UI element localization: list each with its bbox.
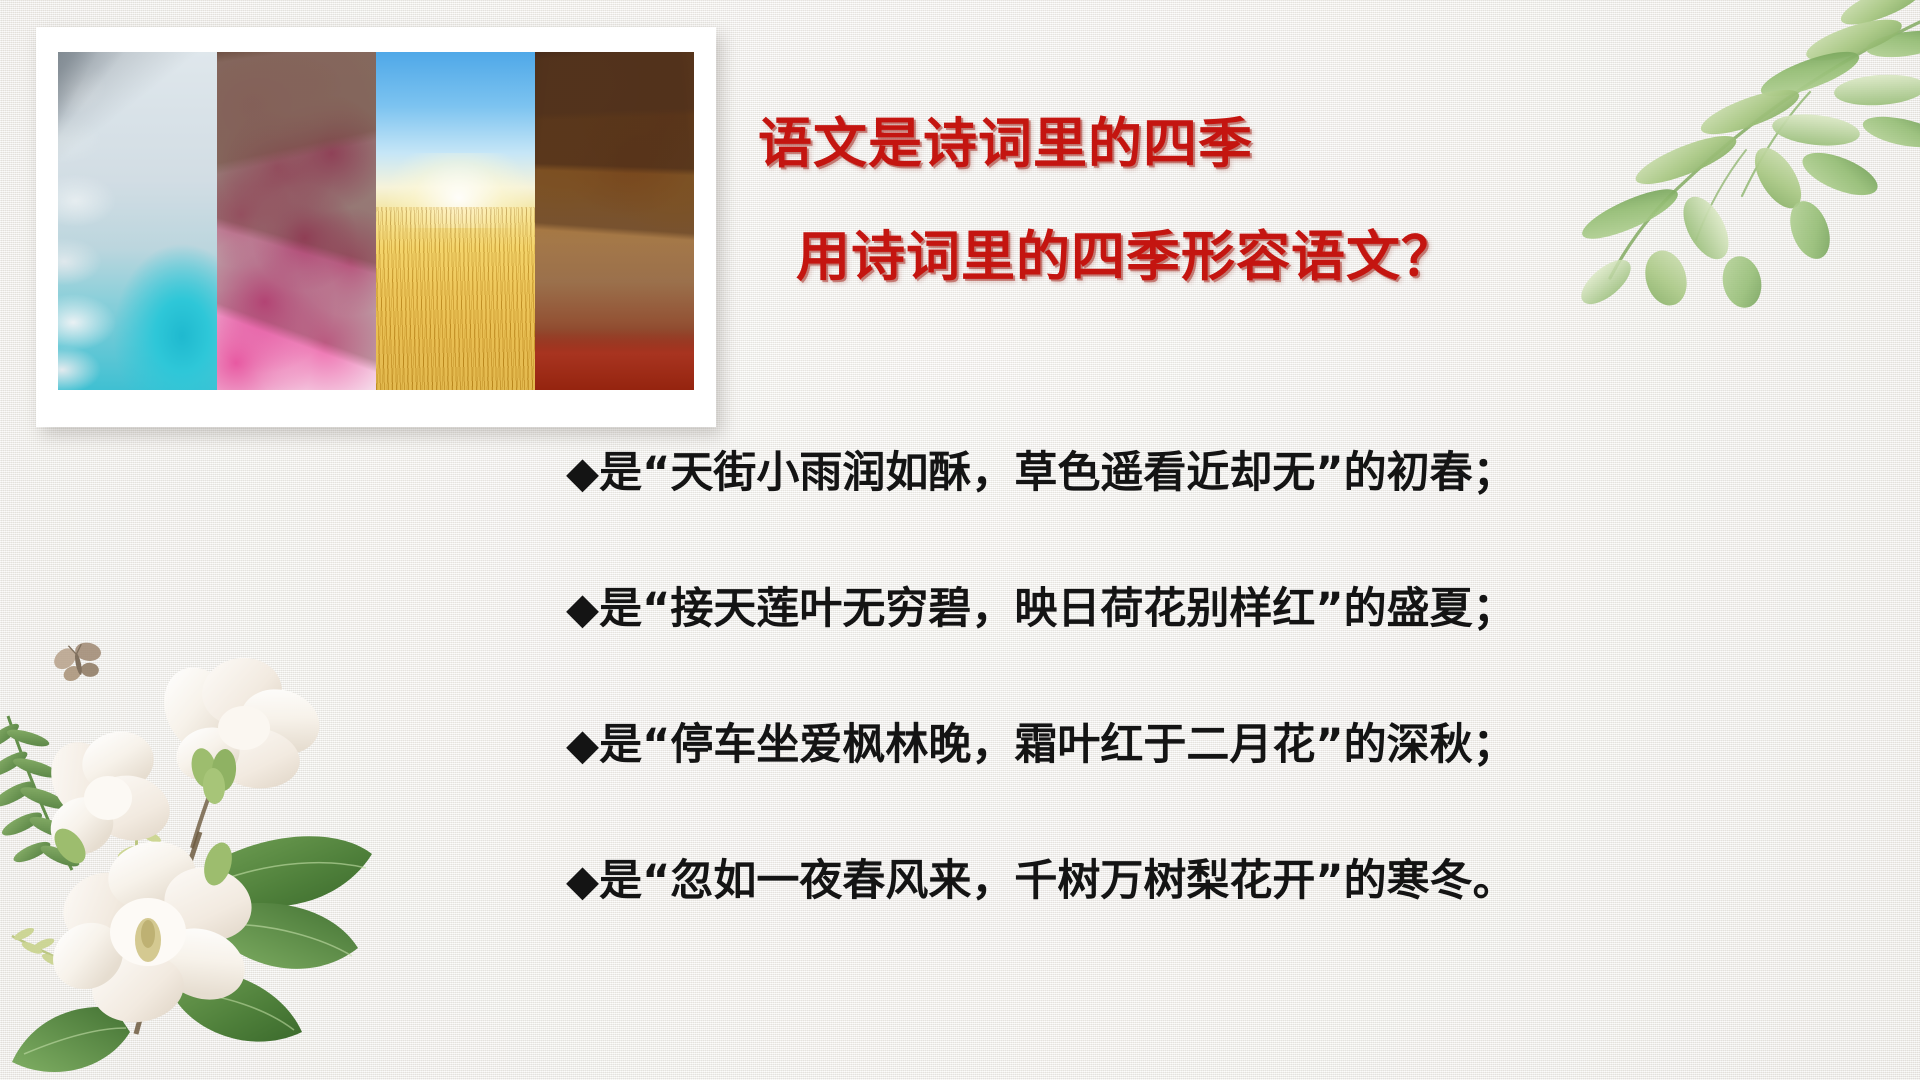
magnolia-flower-top	[151, 653, 327, 805]
season-panel-summer	[376, 52, 535, 390]
poem-list: ◆是“天街小雨润如酥，草色遥看近却无”的初春； ◆是“接天莲叶无穷碧，映日荷花别…	[566, 452, 1896, 903]
magnolia-flower-front	[41, 835, 260, 1028]
magnolia-bouquet-decoration	[0, 618, 406, 1080]
poem-line-autumn: ◆是“停车坐爱枫林晚，霜叶红于二月花”的深秋；	[566, 724, 1896, 767]
season-panel-autumn	[535, 52, 694, 390]
butterfly-icon	[47, 636, 109, 687]
fern-sprig	[12, 926, 90, 979]
four-seasons-photo-frame	[36, 27, 716, 427]
poem-line-spring: ◆是“天街小雨润如酥，草色遥看近却无”的初春；	[566, 452, 1896, 495]
title-line-1: 语文是诗词里的四季	[758, 116, 1748, 173]
four-seasons-photo-strip	[58, 52, 694, 390]
fern-leaf	[0, 716, 82, 870]
season-panel-spring	[217, 52, 376, 390]
poem-line-winter: ◆是“忽如一夜春风来，千树万树梨花开”的寒冬。	[566, 860, 1896, 903]
title-block: 语文是诗词里的四季 用诗词里的四季形容语文？	[748, 116, 1748, 285]
green-leaves	[12, 836, 372, 1072]
poem-line-summer: ◆是“接天莲叶无穷碧，映日荷花别样红”的盛夏；	[566, 588, 1896, 631]
slide-canvas: 语文是诗词里的四季 用诗词里的四季形容语文？ ◆是“天街小雨润如酥，草色遥看近却…	[0, 0, 1920, 1080]
magnolia-flower-middle	[37, 724, 175, 869]
flower-spike	[115, 766, 162, 904]
title-line-2: 用诗词里的四季形容语文？	[796, 229, 1748, 286]
season-panel-winter	[58, 52, 217, 390]
